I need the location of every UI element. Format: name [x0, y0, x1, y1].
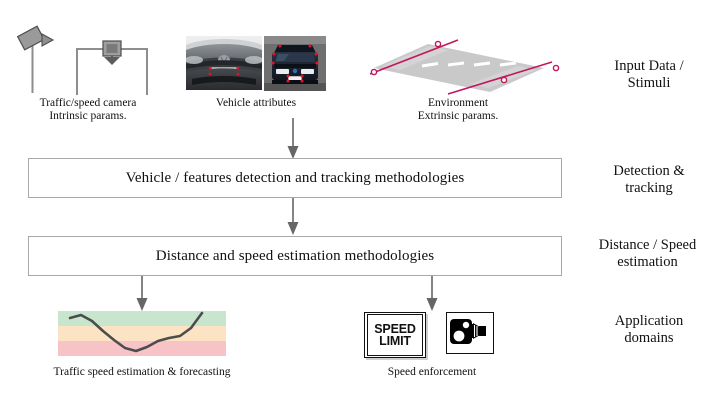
down-arrow-icon-input-to-detection	[283, 118, 303, 160]
process-box-detection[interactable]: Vehicle / features detection and trackin…	[28, 158, 562, 198]
chart-line-path	[58, 307, 226, 360]
process-box-detection-label: Vehicle / features detection and trackin…	[126, 170, 465, 187]
diagram-canvas: Traffic/speed camera Intrinsic params.	[0, 0, 720, 401]
stage-detection-line2: tracking	[580, 180, 718, 197]
vehicle-photo-front-silver	[186, 36, 262, 90]
camera-caption-line2: Intrinsic params.	[12, 110, 164, 123]
process-box-estimation[interactable]: Distance and speed estimation methodolog…	[28, 236, 562, 276]
down-arrow-icon-estimation-to-enforcement	[422, 276, 442, 312]
vehicle-photo-front-dark	[264, 36, 326, 91]
input-caption-environment: Environment Extrinsic params.	[378, 97, 538, 123]
input-caption-vehicle: Vehicle attributes	[176, 97, 336, 110]
speed-camera-icon	[446, 312, 494, 354]
stage-input-line1: Input Data /	[580, 58, 718, 75]
traffic-speed-chart	[58, 311, 226, 356]
application-caption-enforcement: Speed enforcement	[362, 366, 502, 379]
stage-application-line1: Application	[580, 313, 718, 330]
road-plane-icon	[352, 28, 562, 100]
speed-limit-sign-inner: SPEED LIMIT	[367, 314, 423, 356]
enforcement-caption-text: Speed enforcement	[362, 366, 502, 379]
stage-input-line2: Stimuli	[580, 75, 718, 92]
stage-label-distance: Distance / Speed estimation	[575, 237, 720, 271]
stage-label-input: Input Data / Stimuli	[580, 58, 718, 92]
chart-series-line	[70, 313, 202, 351]
stage-distance-line2: estimation	[575, 254, 720, 271]
speed-limit-line2: LIMIT	[379, 335, 411, 348]
camera-caption-line1: Traffic/speed camera	[12, 97, 164, 110]
traffic-caption-text: Traffic speed estimation & forecasting	[36, 366, 248, 379]
vehicle-caption-line1: Vehicle attributes	[176, 97, 336, 110]
stage-label-application: Application domains	[580, 313, 718, 347]
input-caption-camera: Traffic/speed camera Intrinsic params.	[12, 97, 164, 123]
gantry-camera-icon	[72, 40, 152, 95]
stage-label-detection: Detection & tracking	[580, 163, 718, 197]
stage-detection-line1: Detection &	[580, 163, 718, 180]
process-box-estimation-label: Distance and speed estimation methodolog…	[156, 248, 434, 265]
stage-distance-line1: Distance / Speed	[575, 237, 720, 254]
environment-caption-line1: Environment	[378, 97, 538, 110]
application-caption-traffic: Traffic speed estimation & forecasting	[36, 366, 248, 379]
pole-camera-icon	[12, 18, 72, 93]
environment-caption-line2: Extrinsic params.	[378, 110, 538, 123]
down-arrow-icon-detection-to-estimation	[283, 198, 303, 236]
speed-limit-sign-icon: SPEED LIMIT	[364, 312, 426, 358]
stage-application-line2: domains	[580, 330, 718, 347]
